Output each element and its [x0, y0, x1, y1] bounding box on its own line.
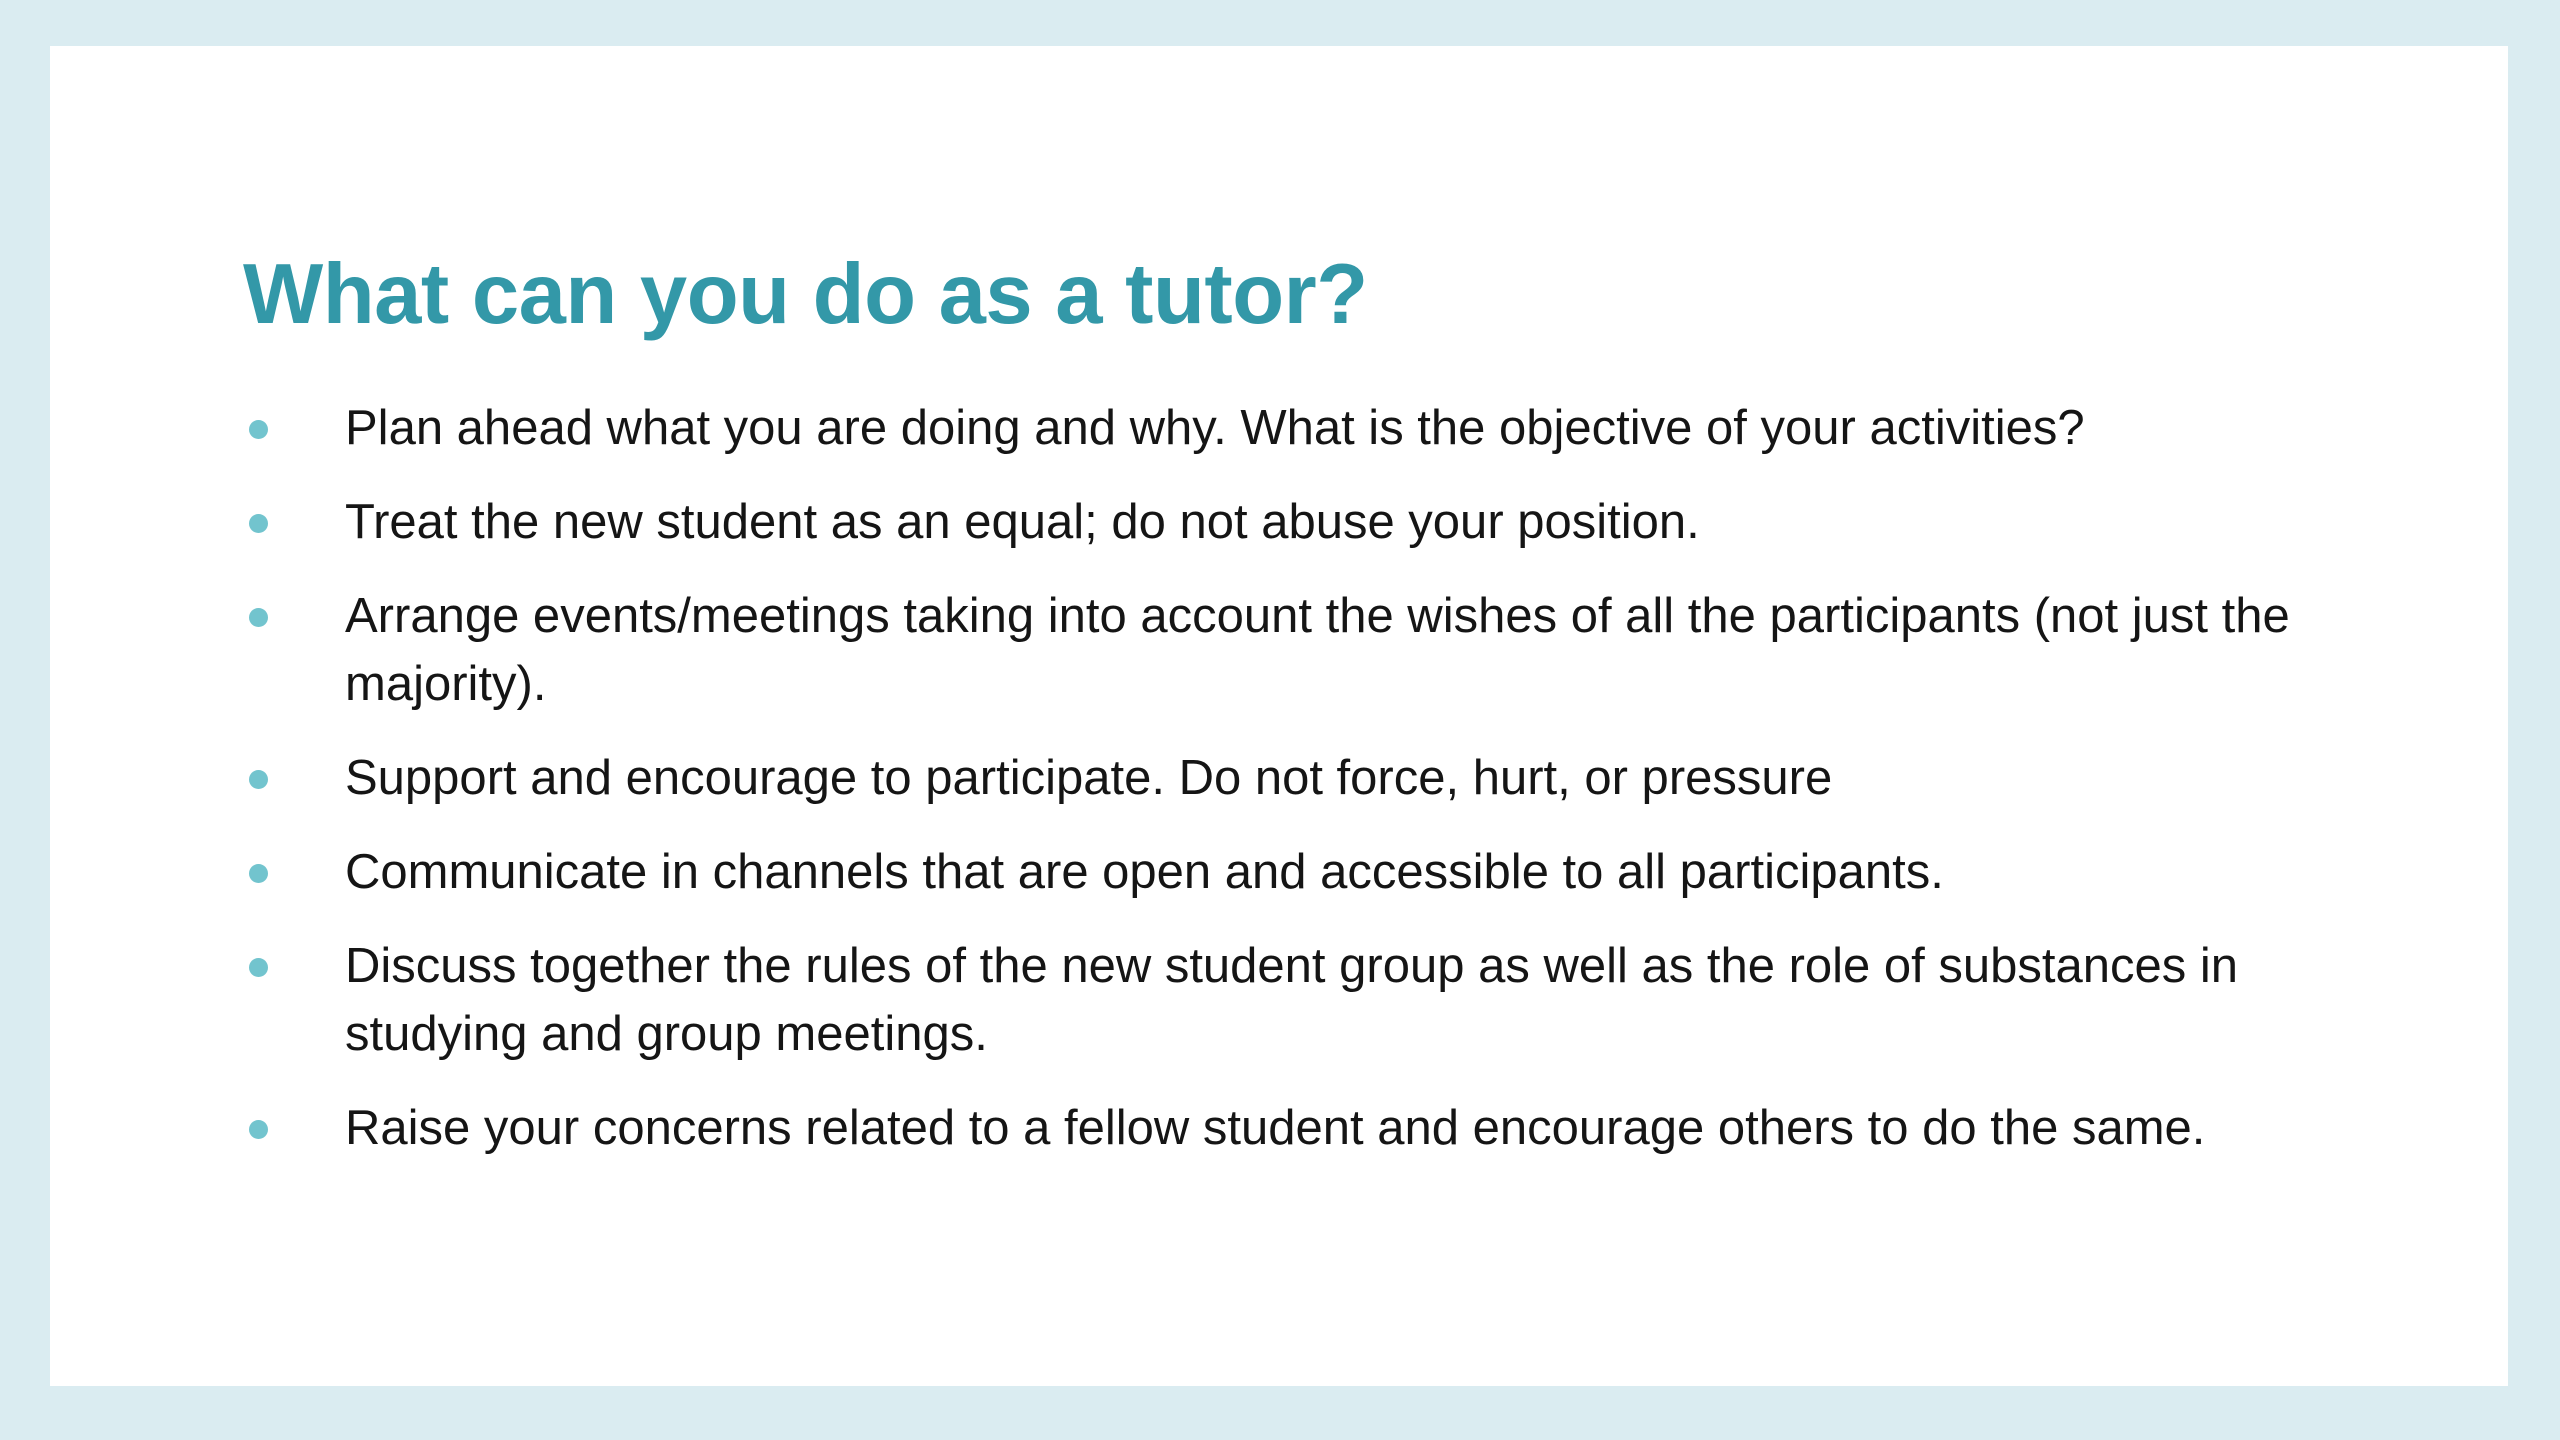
bullet-dot-icon	[249, 420, 268, 439]
slide-frame: What can you do as a tutor? Plan ahead w…	[0, 0, 2560, 1440]
bullet-dot-icon	[249, 770, 268, 789]
list-item: Discuss together the rules of the new st…	[243, 932, 2423, 1068]
bullet-dot-icon	[249, 514, 268, 533]
bullet-list: Plan ahead what you are doing and why. W…	[243, 394, 2423, 1162]
page-title: What can you do as a tutor?	[243, 243, 2443, 347]
list-item-text: Communicate in channels that are open an…	[345, 838, 2423, 906]
list-item-text: Treat the new student as an equal; do no…	[345, 488, 2423, 556]
bullet-dot-icon	[249, 864, 268, 883]
bullet-dot-icon	[249, 958, 268, 977]
list-item: Arrange events/meetings taking into acco…	[243, 582, 2423, 718]
list-item-text: Support and encourage to participate. Do…	[345, 744, 2423, 812]
bullet-dot-icon	[249, 1120, 268, 1139]
list-item-text: Raise your concerns related to a fellow …	[345, 1094, 2423, 1162]
bullet-dot-icon	[249, 608, 268, 627]
list-item: Plan ahead what you are doing and why. W…	[243, 394, 2423, 462]
list-item: Raise your concerns related to a fellow …	[243, 1094, 2423, 1162]
list-item-text: Plan ahead what you are doing and why. W…	[345, 394, 2423, 462]
list-item: Support and encourage to participate. Do…	[243, 744, 2423, 812]
list-item: Treat the new student as an equal; do no…	[243, 488, 2423, 556]
list-item-text: Arrange events/meetings taking into acco…	[345, 582, 2423, 718]
list-item: Communicate in channels that are open an…	[243, 838, 2423, 906]
list-item-text: Discuss together the rules of the new st…	[345, 932, 2423, 1068]
slide-card: What can you do as a tutor? Plan ahead w…	[50, 46, 2508, 1386]
